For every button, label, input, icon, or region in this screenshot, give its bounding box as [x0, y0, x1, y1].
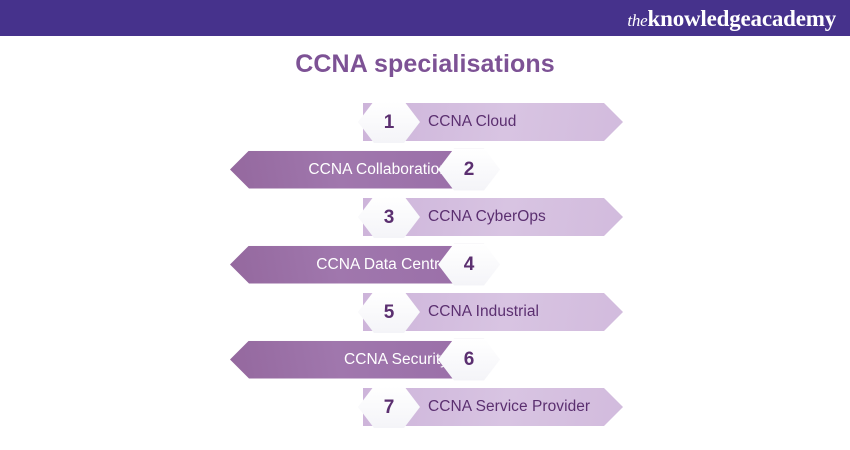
step-number: 2 — [464, 160, 475, 179]
step-number: 3 — [384, 208, 395, 227]
specialisation-label: CCNA Security — [0, 341, 448, 379]
specialisation-row[interactable]: CCNA Data Centre4 — [0, 246, 850, 286]
step-number: 6 — [464, 350, 475, 369]
specialisation-label: CCNA Industrial — [428, 293, 539, 331]
specialisation-label: CCNA Cloud — [428, 103, 516, 141]
step-number: 1 — [384, 113, 395, 132]
step-number: 5 — [384, 303, 395, 322]
specialisation-row[interactable]: CCNA Cloud1 — [0, 103, 850, 143]
specialisation-list: CCNA Cloud1CCNA Collaboration2CCNA Cyber… — [0, 0, 850, 450]
step-number: 7 — [384, 398, 395, 417]
step-number: 4 — [464, 255, 475, 274]
specialisation-label: CCNA Collaboration — [0, 151, 448, 189]
specialisation-row[interactable]: CCNA Industrial5 — [0, 293, 850, 333]
infographic-page: theknowledgeacademy CCNA specialisations… — [0, 0, 850, 450]
specialisation-row[interactable]: CCNA Collaboration2 — [0, 151, 850, 191]
specialisation-row[interactable]: CCNA Security6 — [0, 341, 850, 381]
specialisation-label: CCNA Service Provider — [428, 388, 590, 426]
specialisation-label: CCNA CyberOps — [428, 198, 546, 236]
specialisation-row[interactable]: CCNA CyberOps3 — [0, 198, 850, 238]
specialisation-row[interactable]: CCNA Service Provider7 — [0, 388, 850, 428]
specialisation-label: CCNA Data Centre — [0, 246, 448, 284]
